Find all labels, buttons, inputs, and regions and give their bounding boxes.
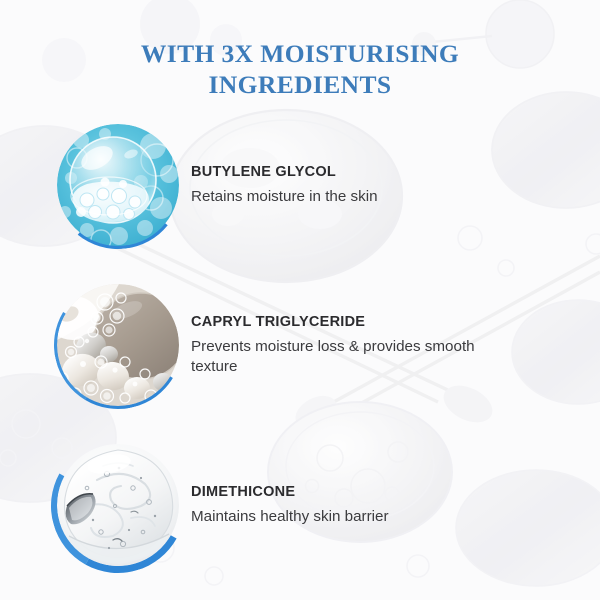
ingredient-text-block: CAPRYL TRIGLYCERIDE Prevents moisture lo… [191, 314, 600, 377]
ingredient-text-block: DIMETHICONE Maintains healthy skin barri… [191, 484, 600, 527]
ingredient-row: BUTYLENE GLYCOL Retains moisture in the … [0, 124, 600, 246]
ingredient-name: CAPRYL TRIGLYCERIDE [191, 314, 572, 330]
ingredient-row: DIMETHICONE Maintains healthy skin barri… [0, 444, 600, 566]
ingredient-name: BUTYLENE GLYCOL [191, 164, 572, 180]
page-title-line-2: INGREDIENTS [0, 69, 600, 100]
ingredient-description: Retains moisture in the skin [191, 187, 491, 207]
ingredient-text-block: BUTYLENE GLYCOL Retains moisture in the … [191, 164, 600, 207]
ingredient-thumbnail-capryl-triglyceride [57, 284, 179, 406]
ingredient-row: CAPRYL TRIGLYCERIDE Prevents moisture lo… [0, 284, 600, 406]
page-title-line-1: WITH 3X MOISTURISING [0, 38, 600, 69]
ingredient-description: Maintains healthy skin barrier [191, 507, 491, 527]
ingredient-thumbnail-butylene-glycol [57, 124, 179, 246]
page-title: WITH 3X MOISTURISING INGREDIENTS [0, 38, 600, 100]
ingredient-thumbnail-dimethicone [57, 444, 179, 566]
thumbnail-image-beige-oil-droplets [57, 284, 179, 406]
ingredient-name: DIMETHICONE [191, 484, 572, 500]
thumbnail-image-clear-silicone-gel [57, 444, 179, 566]
ingredient-description: Prevents moisture loss & provides smooth… [191, 337, 491, 377]
thumbnail-image-blue-water-bubbles [57, 124, 179, 246]
